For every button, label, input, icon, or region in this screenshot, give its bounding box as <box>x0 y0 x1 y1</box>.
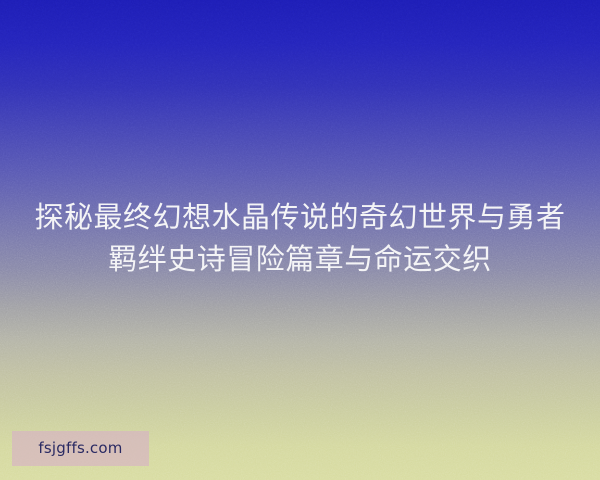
watermark-site-label: fsjgffs.com <box>38 441 122 456</box>
banner-image: 探秘最终幻想水晶传说的奇幻世界与勇者 羁绊史诗冒险篇章与命运交织 fsjgffs… <box>0 0 600 480</box>
banner-title-line-2: 羁绊史诗冒险篇章与命运交织 <box>14 238 586 280</box>
watermark-badge: fsjgffs.com <box>12 431 149 466</box>
banner-title-line-1: 探秘最终幻想水晶传说的奇幻世界与勇者 <box>14 196 586 238</box>
banner-title: 探秘最终幻想水晶传说的奇幻世界与勇者 羁绊史诗冒险篇章与命运交织 <box>0 196 600 280</box>
